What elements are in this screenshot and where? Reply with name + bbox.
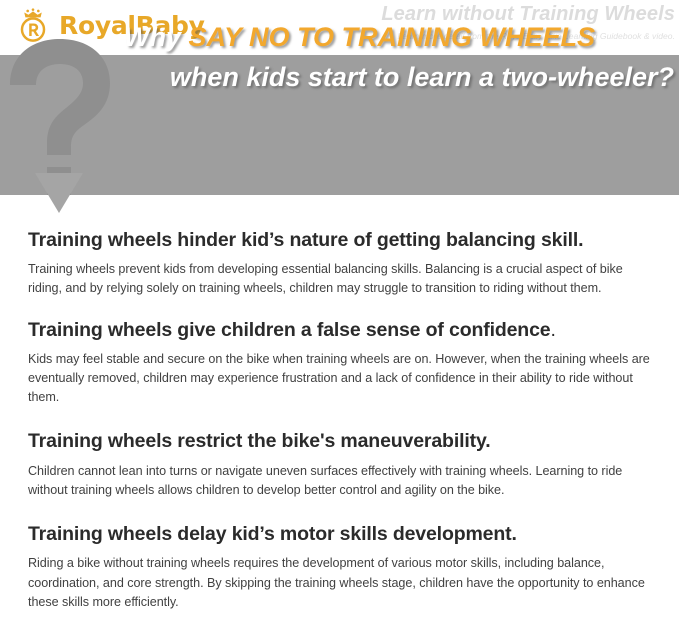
banner-headline: Why SAY NO TO TRAINING WHEELS when kids … <box>118 18 674 98</box>
section-2-heading-period: . <box>550 319 555 341</box>
banner-headline-line1: Why SAY NO TO TRAINING WHEELS <box>118 18 674 58</box>
banner-line1-prefix: Why <box>124 22 189 52</box>
section-4-body: Riding a bike without training wheels re… <box>28 554 652 611</box>
banner-headline-line2: when kids start to learn a two-wheeler? <box>118 58 674 98</box>
section-1-body: Training wheels prevent kids from develo… <box>28 260 652 298</box>
section-4-heading: Training wheels delay kid’s motor skills… <box>28 522 652 547</box>
section-3-body: Children cannot lean into turns or navig… <box>28 462 652 500</box>
banner-line1-highlight: SAY NO TO TRAINING WHEELS <box>189 22 596 52</box>
section-4: Training wheels delay kid’s motor skills… <box>28 522 652 612</box>
section-3-heading: Training wheels restrict the bike's mane… <box>28 429 652 454</box>
section-2-body: Kids may feel stable and secure on the b… <box>28 350 652 407</box>
section-3: Training wheels restrict the bike's mane… <box>28 429 652 500</box>
section-2-heading-main: Training wheels give children a false se… <box>28 319 550 341</box>
article-body: Training wheels hinder kid’s nature of g… <box>28 228 652 629</box>
section-1: Training wheels hinder kid’s nature of g… <box>28 228 652 299</box>
section-1-heading: Training wheels hinder kid’s nature of g… <box>28 228 652 253</box>
section-2: Training wheels give children a false se… <box>28 318 652 408</box>
royalbaby-crowned-r-logo-icon <box>14 6 52 44</box>
section-2-heading: Training wheels give children a false se… <box>28 318 652 343</box>
